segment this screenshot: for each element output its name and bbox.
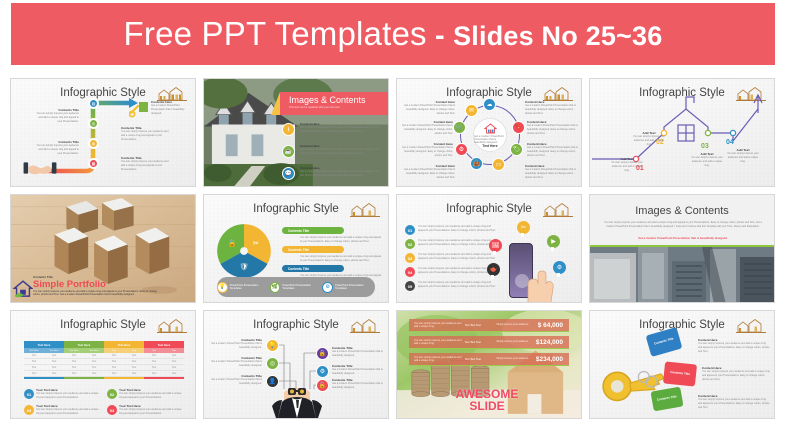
number-badge: 05 [405,281,415,291]
content-block: Contents Title You can simply impress yo… [121,127,169,142]
content-block-text: Get a modern PowerPoint Presentation tha… [525,104,579,115]
content-block: Content Here Get a modern PowerPoint Pre… [403,101,455,116]
slide-thumbnail-36[interactable]: Infographic Style Contents Title Content… [589,310,775,419]
tag-content-1: Content Here You can simply impress your… [698,339,770,354]
title-band: Images & Contents This text can be repla… [280,92,388,115]
price-note: Simply impress your audience [496,340,531,343]
bubble-tools-icon[interactable]: ✂ [517,221,530,234]
table-header: Text Here [64,341,104,348]
numbered-item-text: You can simply impress your audience and… [418,281,497,289]
table-subheader: Text Here [64,348,84,353]
header-banner: Free PPT Templates - Slides No 25~36 [11,3,775,65]
highlight-text: Get a modern PowerPoint Presentation tha… [610,237,756,241]
slide-thumbnail-27[interactable]: Infographic Style Get a modern PowerPoin… [396,78,582,187]
slide-subtitle: This text can be replaced with your own … [280,105,388,109]
legend-number: 03 [24,405,34,415]
price-note: Simply impress your audience [496,323,531,326]
step-text: You can simply impress your audience and… [690,156,724,167]
handshake-icon [23,160,57,176]
slide-thumbnail-30[interactable]: Infographic Style 🔒 ✂ 🛡 Contents Title Y… [203,194,389,303]
ring-center: Get a modern PowerPoint Presentation tha… [473,118,507,152]
node-lock-icon[interactable]: 🔒 [316,347,329,360]
ring-center-label: Text Here [482,144,497,148]
slide-grid: Infographic Style ▤ ◎ ◍ ▦ [10,78,776,419]
content-block-text: You can simply impress your audience and… [35,112,79,123]
price-desc: You can simply impress your audience and… [409,339,465,346]
leaf-icon: 🌿 [270,282,281,293]
eco-house-logo-icon [13,279,33,299]
bar-text-2: You can simply impress your audience and… [300,255,382,263]
slide-title: Images & Contents [280,92,388,105]
legend-text: You can simply impress your audience and… [119,392,185,400]
ring-node-8[interactable]: 🔖 [512,121,525,134]
table-header-row: Text Here Text Here Text Here Text Here [24,341,184,348]
tag-label: Contents Title [654,337,674,346]
key-tag-icon [129,99,151,119]
title-main: Free PPT Templates [124,15,427,52]
svg-text:🛡: 🛡 [239,262,248,271]
content-block-text: Get a modern PowerPoint Presentation tha… [403,104,455,115]
slide-thumbnail-35[interactable]: You can simply impress your audience and… [396,310,582,419]
legend-number: 01 [24,389,34,399]
yellow-wedge [271,92,280,115]
numbered-item: 05 You can simply impress your audience … [405,281,497,291]
step-text: You can simply impress your audience and… [632,135,666,146]
svg-text:✂: ✂ [253,238,259,247]
gear-icon: ⚙ [322,282,333,293]
portfolio-title-a: Simple [33,279,67,290]
block-text: Get a modern PowerPoint Presentation tha… [332,350,384,358]
table-subheader: Text [164,348,184,353]
portfolio-title: Simple Portfolio [33,279,158,290]
bullet-block: Content Here Get a modern PowerPoint Pre… [300,123,382,134]
table-subheader: Text [124,348,144,353]
intro-text: You can simply impress your audience and… [600,221,766,229]
city-photo [590,247,775,303]
footer-item-label: PowerPoint Presentation Templates [282,284,322,291]
house-logo-icon [543,201,573,218]
price-value: $124,000 [531,339,569,346]
legend-text: You can simply impress your audience and… [119,408,185,416]
slide-thumbnail-28[interactable]: Infographic Style 01 02 [589,78,775,187]
slide-thumbnail-34[interactable]: Infographic Style 💡 ◎ 👤 🔒 ⚙ 🔓 Contents T [203,310,389,419]
numbered-item-text: You can simply impress your audience and… [418,267,497,275]
bar-pill-3[interactable]: Contents Title [282,265,344,272]
number-badge: 02 [405,239,415,249]
step-node-1[interactable]: ▤ [88,98,99,109]
table-subheader-row: Text Here Text Here Text Here Text Here … [24,348,184,353]
numbered-item: 03 You can simply impress your audience … [405,253,497,263]
left-block-2: Contents Title Get a modern PowerPoint P… [210,357,262,368]
right-block-1: Contents Title Get a modern PowerPoint P… [332,347,384,358]
bubble-image-icon[interactable]: 🖼 [489,239,502,252]
table-header: Text Here [24,341,64,348]
headline-line-2: SLIDE [439,400,535,412]
table-header: Text Here [144,341,184,348]
left-block-1: Contents Title Get a modern PowerPoint P… [210,339,262,350]
step-block-4: Add Text You can simply impress your aud… [726,149,760,164]
svg-text:🔒: 🔒 [228,238,237,247]
legend-item-2: 02 Your Text Here You can simply impress… [107,389,185,400]
numbered-item: 01 You can simply impress your audience … [405,225,497,235]
legend-text: You can simply impress your audience and… [36,408,102,416]
table-footer-rule [24,377,184,379]
block-text: Get a modern PowerPoint Presentation tha… [332,368,384,376]
tag-content-2: Content Here You can simply impress your… [702,367,772,382]
node-circle-icon[interactable]: ◎ [266,357,279,370]
ring-center-sub: Get a modern PowerPoint Presentation tha… [474,135,506,144]
slide-thumbnail-32[interactable]: Images & Contents You can simply impress… [589,194,775,303]
tag-content-text: You can simply impress your audience and… [698,398,770,409]
house-logo-icon [157,317,187,334]
step-text: You can simply impress your audience and… [610,161,644,172]
footer-item-3[interactable]: ⚙ PowerPoint Presentation Templates [322,282,375,293]
numbered-item-text: You can simply impress your audience and… [418,239,497,247]
step-number-04: 04 [726,139,734,146]
content-block: Content Here Get a modern PowerPoint Pre… [399,143,453,158]
page-title: Free PPT Templates - Slides No 25~36 [124,15,663,53]
businessman-binoculars-illustration [254,382,340,418]
tag-blue[interactable]: Contents Title [646,327,683,357]
footer-pill: 💡 PowerPoint Presentation Templates 🌿 Po… [217,277,375,297]
step-number-03: 03 [701,143,709,150]
price-note: Simply impress your audience [496,357,531,360]
tag-content-text: You can simply impress your audience and… [698,342,770,353]
footer-item-2[interactable]: 🌿 PowerPoint Presentation Templates [270,282,323,293]
comparison-table: Text Here Text Here Text Here Text Here … [24,341,184,379]
ring-node-7[interactable]: 🏷 [510,143,523,156]
price-row-2: You can simply impress your audience and… [409,336,569,349]
side-content-text: Get a modern PowerPoint Presentation tha… [151,104,191,115]
bar-pill-1[interactable]: Contents Title [282,227,344,234]
slide-thumbnail-33[interactable]: Infographic Style Text Here Text Here Te… [10,310,196,419]
content-block: Contents Title You can simply impress yo… [121,157,169,172]
bullet-icon-download[interactable]: ⭳ [282,123,295,136]
ppt-template-gallery: Free PPT Templates - Slides No 25~36 Inf… [0,0,786,423]
tag-red[interactable]: Contents Title [663,361,697,386]
price-row-3: You can simply impress your audience and… [409,353,569,366]
content-block: Content Here Get a modern PowerPoint Pre… [525,165,579,180]
content-block-text: Get a modern PowerPoint Presentation tha… [527,146,581,157]
right-block-2: Contents Title Get a modern PowerPoint P… [332,365,384,376]
side-content-block: Contents Here Get a modern PowerPoint Pr… [151,101,191,116]
step-block-1: Add Text You can simply impress your aud… [610,158,644,173]
ring-node-3[interactable]: 🛒 [453,121,466,134]
step-text: You can simply impress your audience and… [726,152,760,163]
bullet-block: Content Here Get a modern PowerPoint Pre… [300,167,382,178]
pie-chart: 🔒 ✂ 🛡 [216,223,272,279]
step-node-2[interactable]: ◎ [88,118,99,129]
content-block: Contents Title You can simply impress yo… [35,109,79,124]
price-desc: You can simply impress your audience and… [409,322,465,329]
step-node-4[interactable]: ▦ [88,158,99,169]
tag-content-text: You can simply impress your audience and… [702,370,772,381]
numbered-item-text: You can simply impress your audience and… [418,225,497,233]
content-block-text: You can simply impress your audience and… [121,130,169,141]
table-subheader: Text [144,348,164,353]
bar-pill-2[interactable]: Contents Title [282,246,344,253]
title-sub: Slides No 25~36 [453,21,662,51]
ring-node-5[interactable]: 👜 [470,157,483,170]
step-node-3[interactable]: ◍ [88,138,99,149]
price-row-1: You can simply impress your audience and… [409,319,569,332]
tag-content-3: Content Here You can simply impress your… [698,395,770,410]
house-logo-icon [736,317,766,334]
number-badge: 03 [405,253,415,263]
bullet-block: Content Here Get a modern PowerPoint Pre… [300,145,382,156]
slide-thumbnail-31[interactable]: Infographic Style 01 You can simply impr… [396,194,582,303]
table-subheader: Text Here [24,348,44,353]
table-header: Text Here [104,341,144,348]
numbered-item: 04 You can simply impress your audience … [405,267,497,277]
bullet-text: Get a modern PowerPoint Presentation tha… [300,148,382,156]
content-block-text: You can simply impress your audience and… [35,144,79,155]
bullet-icon-cup[interactable]: ☕ [282,145,295,158]
ring-node-6[interactable]: ▭ [492,158,505,171]
bubble-teapot-icon[interactable]: 🫖 [487,263,500,276]
legend-item-1: 01 Your Text Here You can simply impress… [24,389,102,400]
content-block-text: Get a modern PowerPoint Presentation tha… [399,124,453,135]
portfolio-caption: Contents Title Simple Portfolio You can … [33,275,158,297]
footer-item-1[interactable]: 💡 PowerPoint Presentation Templates [217,282,270,293]
content-block: Content Here Get a modern PowerPoint Pre… [527,143,581,158]
numbered-item-text: You can simply impress your audience and… [418,253,497,261]
ring-node-1[interactable]: ☁ [483,98,496,111]
portfolio-text: You can simply impress your audience and… [33,290,158,297]
content-block: Content Here Get a modern PowerPoint Pre… [399,121,453,136]
bullet-text: Get a modern PowerPoint Presentation tha… [300,126,382,134]
content-block: Contents Title You can simply impress yo… [35,141,79,156]
content-block: Content Here Get a modern PowerPoint Pre… [527,121,581,136]
content-block-text: You can simply impress your audience and… [121,160,169,171]
hand-icon [525,267,555,303]
table-subheader: Text Here [44,348,64,353]
ring-node-4[interactable]: ⚙ [455,143,468,156]
slide-thumbnail-25[interactable]: Infographic Style ▤ ◎ ◍ ▦ [10,78,196,187]
bullet-icon-chat[interactable]: 💬 [282,167,295,180]
house-icon [484,123,497,134]
content-block-text: Get a modern PowerPoint Presentation tha… [403,168,455,179]
bar-text-1: You can simply impress your audience and… [300,236,382,244]
bubble-video-icon[interactable]: ▶ [547,235,560,248]
content-block-text: Get a modern PowerPoint Presentation tha… [525,168,579,179]
portfolio-title-b: Portfolio [67,279,106,290]
legend-number: 04 [107,405,117,415]
legend-item-4: 04 Your Text Here You can simply impress… [107,405,185,416]
content-block-text: Get a modern PowerPoint Presentation tha… [527,124,581,135]
node-gear-icon[interactable]: ⚙ [316,365,329,378]
bullet-text: Get a modern PowerPoint Presentation tha… [300,170,382,178]
step-block-3: Add Text You can simply impress your aud… [690,153,724,168]
step-block-2: Add Text You can simply impress your aud… [632,132,666,147]
footer-item-label: PowerPoint Presentation Templates [230,284,270,291]
title-dash: - [427,20,453,52]
numbered-item: 02 You can simply impress your audience … [405,239,497,249]
content-block: Content Here Get a modern PowerPoint Pre… [403,165,455,180]
house-logo-icon [350,201,380,218]
price-mid: Text Text Text [465,341,497,344]
slide-title: Images & Contents [590,205,774,217]
table-subheader: Text [104,348,124,353]
bulb-icon: 💡 [217,282,228,293]
price-value: $ 64,000 [531,322,569,329]
legend-text: You can simply impress your audience and… [36,392,102,400]
footer-item-label: PowerPoint Presentation Templates [335,284,375,291]
legend-number: 02 [107,389,117,399]
content-block: Content Here Get a modern PowerPoint Pre… [525,101,579,116]
table-subheader: Text Here [84,348,104,353]
awesome-headline: AWESOME SLIDE [439,388,535,412]
ring-node-2[interactable]: ✉ [465,104,478,117]
price-value: $234,000 [531,356,569,363]
price-mid: Text Text Text [465,324,497,327]
slide-thumbnail-29[interactable]: Contents Title Simple Portfolio You can … [10,194,196,303]
tag-label: Contents Title [670,371,690,377]
content-block-text: Get a modern PowerPoint Presentation tha… [399,146,453,157]
icon-ring: Get a modern PowerPoint Presentation tha… [460,105,520,165]
price-desc: You can simply impress your audience and… [409,356,465,363]
number-badge: 04 [405,267,415,277]
block-text: Get a modern PowerPoint Presentation tha… [210,360,262,368]
house-logo-icon [543,85,573,102]
slide-thumbnail-26[interactable]: Images & Contents This text can be repla… [203,78,389,187]
block-text: Get a modern PowerPoint Presentation tha… [210,342,262,350]
price-mid: Text Text Text [465,358,497,361]
bubble-gear-icon[interactable]: ⚙ [553,261,566,274]
number-badge: 01 [405,225,415,235]
node-bulb-icon[interactable]: 💡 [266,339,279,352]
tag-label: Contents Title [657,395,677,402]
legend-item-3: 03 Your Text Here You can simply impress… [24,405,102,416]
